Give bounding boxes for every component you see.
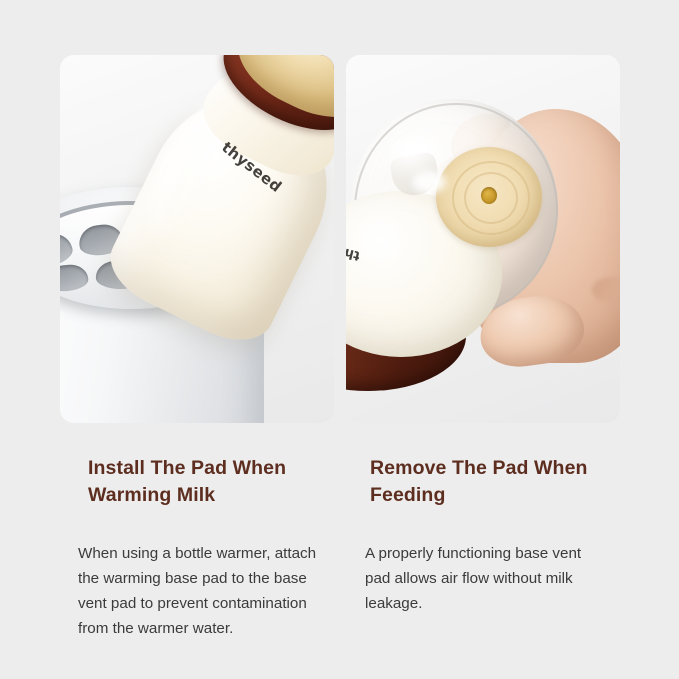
- photo-card-remove-pad: thyseed: [346, 55, 620, 423]
- baby-bottle-base-view: thyseed: [346, 99, 580, 391]
- caption-remove-pad: Remove The Pad When Feeding A properly f…: [365, 455, 599, 616]
- vent-hole-center: [481, 187, 497, 204]
- dome-highlight-small: [412, 171, 446, 193]
- caption-heading-install: Install The Pad When Warming Milk: [78, 455, 318, 509]
- product-feature-panel: thyseed: [0, 0, 679, 679]
- photo-row: thyseed: [0, 0, 679, 440]
- caption-body-remove: A properly functioning base vent pad all…: [365, 509, 599, 616]
- caption-heading-remove: Remove The Pad When Feeding: [365, 455, 599, 509]
- photo-card-install-pad: thyseed: [60, 55, 334, 423]
- photo-install-pad-warming: thyseed: [60, 55, 334, 423]
- photo-remove-pad-feeding: thyseed: [346, 55, 620, 423]
- caption-body-install: When using a bottle warmer, attach the w…: [78, 509, 318, 641]
- caption-install-pad: Install The Pad When Warming Milk When u…: [78, 455, 318, 641]
